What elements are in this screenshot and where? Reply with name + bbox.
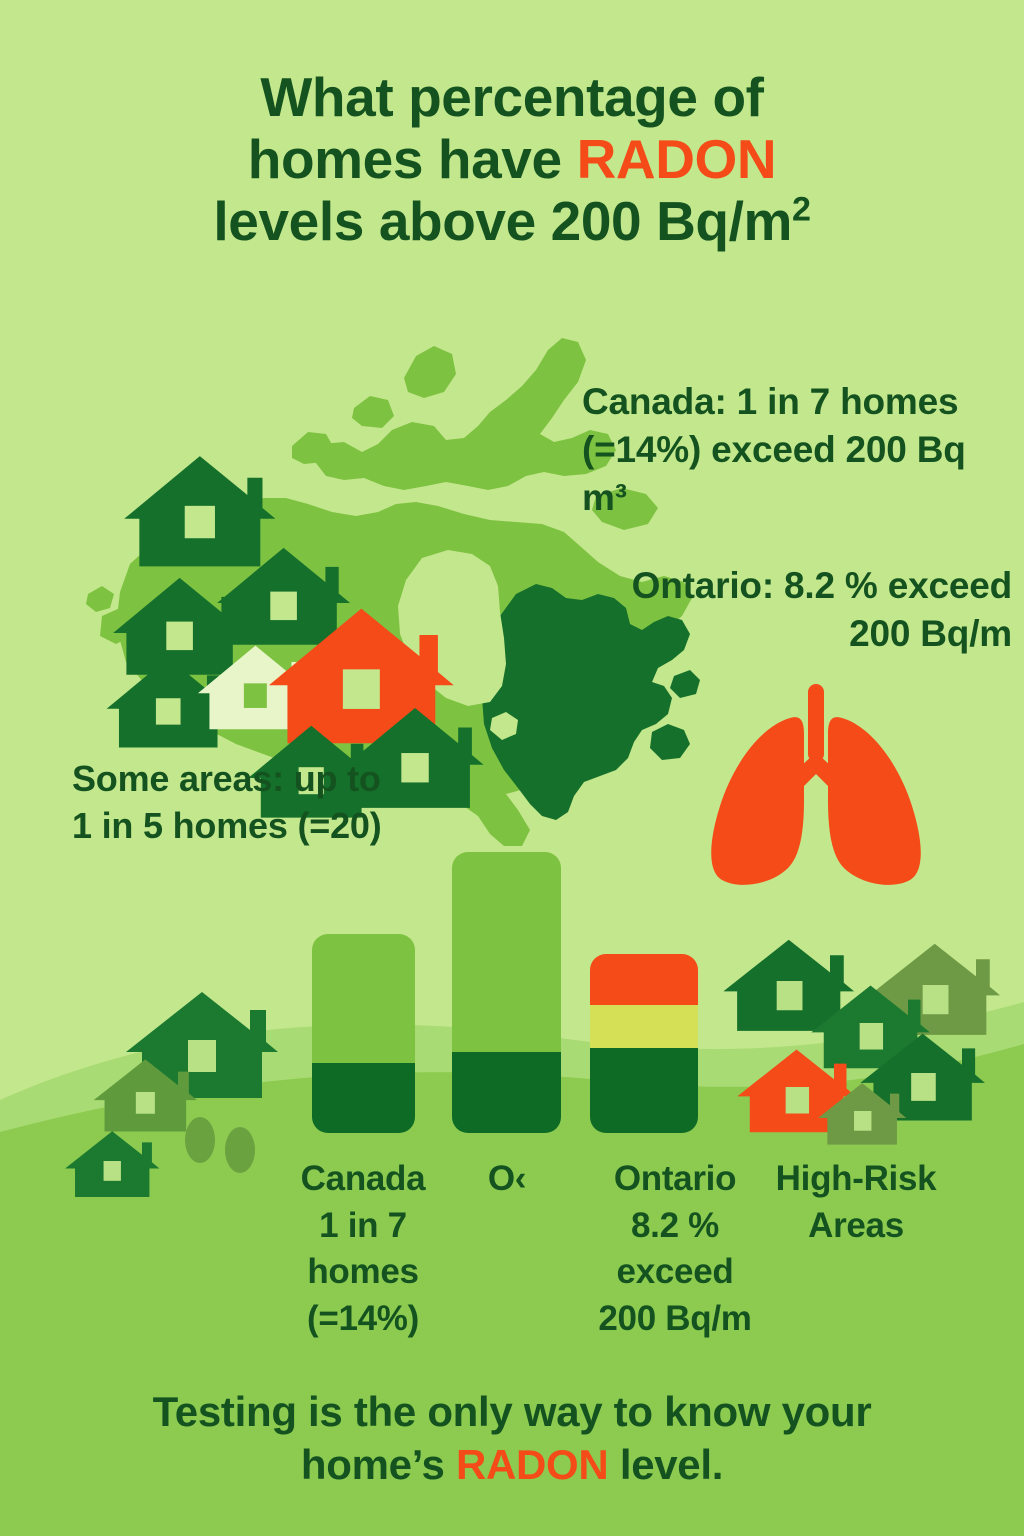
- bar-ontario[interactable]: [590, 954, 698, 1133]
- title-line-3: levels above 200 Bq/m2: [0, 190, 1024, 252]
- bar-label-high-risk-line-2: Areas: [744, 1203, 968, 1250]
- bar-label-ontario-line-4: 200 Bq/m: [562, 1296, 788, 1343]
- bar-label-canada-line-1: Canada: [252, 1156, 474, 1203]
- bar-canada[interactable]: [312, 934, 415, 1133]
- map-house-1: [124, 456, 275, 566]
- scene-house-left-small: [65, 1131, 159, 1197]
- footer-message: Testing is the only way to know your hom…: [0, 1386, 1024, 1492]
- footer-line-2-pre: home’s: [301, 1441, 456, 1488]
- bar-ontario-segment-3: [590, 1048, 698, 1133]
- scene-bush-1: [185, 1117, 215, 1163]
- scene-bush-2: [225, 1127, 255, 1173]
- title-radon-word: RADON: [577, 128, 777, 190]
- bar-ontario-tall[interactable]: [452, 852, 561, 1133]
- bar-label-ontario-tall: O‹: [444, 1156, 570, 1203]
- bar-label-high-risk-line-1: High-Risk: [744, 1156, 968, 1203]
- footer-line-2-post: level.: [608, 1441, 723, 1488]
- footer-line-1: Testing is the only way to know your: [0, 1386, 1024, 1439]
- footer-radon-word: RADON: [456, 1441, 609, 1488]
- bar-label-canada-line-3: homes: [252, 1249, 474, 1296]
- page-title: What percentage of homes have RADON leve…: [0, 66, 1024, 252]
- callout-some-areas-stat: Some areas: up to 1 in 5 homes (=20): [72, 756, 382, 850]
- title-line-3-text: levels above 200 Bq/m: [213, 190, 792, 252]
- bar-label-ontario-line-3: exceed: [562, 1249, 788, 1296]
- scene-cluster-left: [68, 988, 318, 1168]
- bar-ontario-tall-segment-2: [452, 1052, 561, 1133]
- bar-canada-segment-1: [312, 934, 415, 1063]
- bar-label-canada: Canada1 in 7homes(=14%): [252, 1156, 474, 1342]
- title-superscript: 2: [792, 191, 811, 229]
- title-line-2-text: homes have: [248, 128, 577, 190]
- footer-line-2: home’s RADON level.: [0, 1439, 1024, 1492]
- callout-ontario-stat: Ontario: 8.2 % exceed 200 Bq/m: [582, 562, 1012, 658]
- bar-canada-segment-2: [312, 1063, 415, 1133]
- bar-label-ontario-tall-line-1: O‹: [444, 1156, 570, 1203]
- bar-ontario-segment-1: [590, 954, 698, 1005]
- callout-canada-stat: Canada: 1 in 7 homes (=14%) exceed 200 B…: [582, 378, 1002, 522]
- scene-cluster-right: [712, 932, 1012, 1162]
- infographic-canvas: What percentage of homes have RADON leve…: [0, 0, 1024, 1536]
- title-line-1: What percentage of: [0, 66, 1024, 128]
- bar-label-canada-line-4: (=14%): [252, 1296, 474, 1343]
- bar-ontario-segment-2: [590, 1005, 698, 1048]
- bar-ontario-tall-segment-1: [452, 852, 561, 1052]
- bar-label-high-risk: High-RiskAreas: [744, 1156, 968, 1249]
- title-line-2: homes have RADON: [0, 128, 1024, 190]
- bar-label-canada-line-2: 1 in 7: [252, 1203, 474, 1250]
- lungs-icon: [706, 682, 926, 890]
